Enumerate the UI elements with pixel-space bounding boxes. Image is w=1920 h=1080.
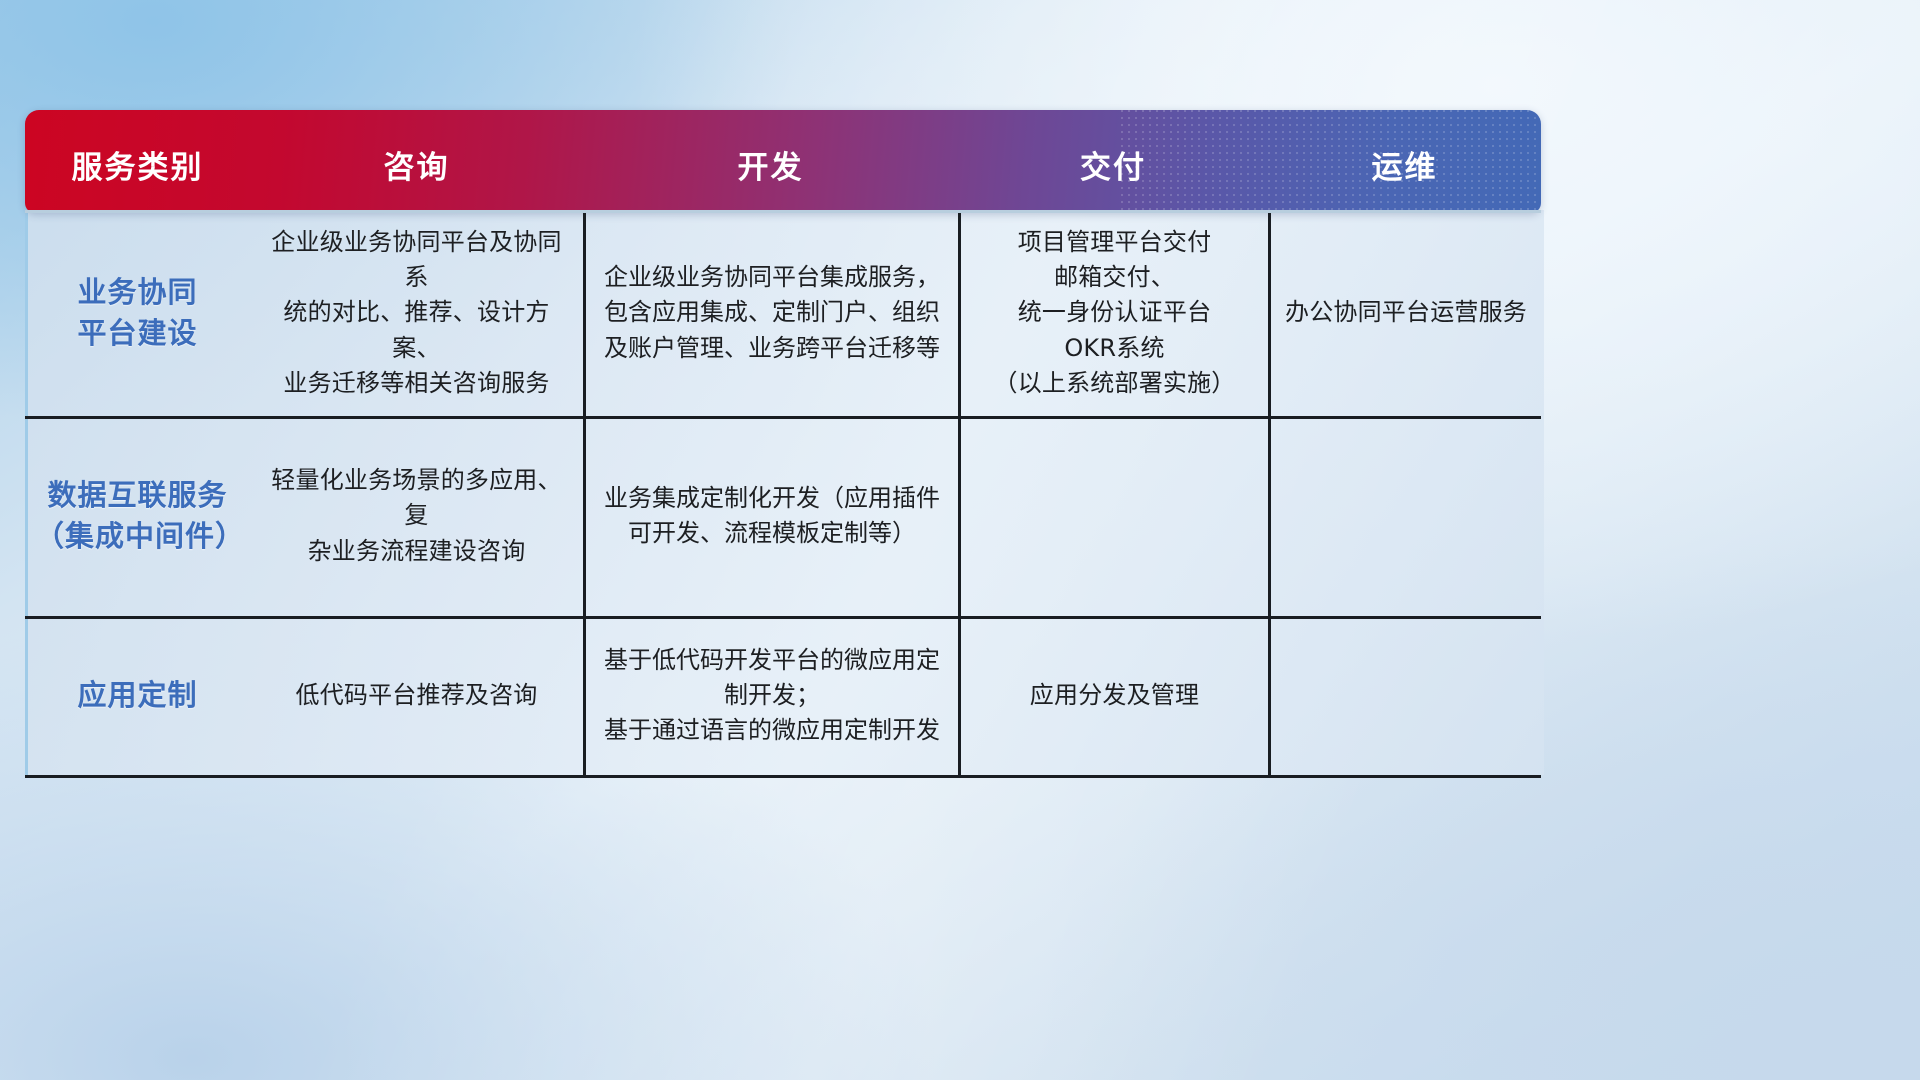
divider-table-bottom [25, 775, 1541, 778]
cell-text: 项目管理平台交付 邮箱交付、 统一身份认证平台 OKR系统 （以上系统部署实施） [994, 225, 1236, 400]
cell-text: 企业级业务协同平台及协同系 统的对比、推荐、设计方案、 业务迁移等相关咨询服务 [260, 225, 573, 400]
cell-operations [1268, 416, 1541, 616]
cell-text: 应用分发及管理 [1030, 678, 1199, 713]
cell-operations [1268, 616, 1541, 775]
cell-text: 低代码平台推荐及咨询 [296, 678, 538, 713]
row-label-cell: 数据互联服务 （集成中间件） [25, 416, 250, 616]
cell-development: 基于低代码开发平台的微应用定 制开发； 基于通过语言的微应用定制开发 [583, 616, 958, 775]
row-label: 数据互联服务 （集成中间件） [35, 475, 240, 557]
cell-consulting: 轻量化业务场景的多应用、复 杂业务流程建设咨询 [250, 416, 583, 616]
cell-development: 企业级业务协同平台集成服务， 包含应用集成、定制门户、组织 及账户管理、业务跨平… [583, 210, 958, 416]
column-header-operations: 运维 [1268, 142, 1541, 213]
cell-development: 业务集成定制化开发（应用插件 可开发、流程模板定制等） [583, 416, 958, 616]
divider-row-2 [25, 616, 1541, 619]
column-header-service-category: 服务类别 [25, 142, 250, 213]
column-header-consulting: 咨询 [250, 142, 583, 213]
table-body: 业务协同 平台建设 企业级业务协同平台及协同系 统的对比、推荐、设计方案、 业务… [25, 210, 1541, 775]
cell-text: 轻量化业务场景的多应用、复 杂业务流程建设咨询 [260, 463, 573, 568]
cell-consulting: 企业级业务协同平台及协同系 统的对比、推荐、设计方案、 业务迁移等相关咨询服务 [250, 210, 583, 416]
column-header-delivery: 交付 [958, 142, 1268, 213]
divider-row-1 [25, 416, 1541, 419]
cell-delivery [958, 416, 1268, 616]
column-header-development: 开发 [583, 142, 958, 213]
cell-consulting: 低代码平台推荐及咨询 [250, 616, 583, 775]
cell-delivery: 项目管理平台交付 邮箱交付、 统一身份认证平台 OKR系统 （以上系统部署实施） [958, 210, 1268, 416]
divider-header-bottom [25, 210, 1541, 213]
cell-delivery: 应用分发及管理 [958, 616, 1268, 775]
table-header-row: 服务类别 咨询 开发 交付 运维 [25, 110, 1541, 213]
cell-text: 业务集成定制化开发（应用插件 可开发、流程模板定制等） [604, 481, 940, 551]
row-label: 业务协同 平台建设 [77, 272, 197, 354]
table-row: 应用定制 低代码平台推荐及咨询 基于低代码开发平台的微应用定 制开发； 基于通过… [25, 616, 1541, 775]
cell-text: 办公协同平台运营服务 [1285, 295, 1527, 330]
table-row: 数据互联服务 （集成中间件） 轻量化业务场景的多应用、复 杂业务流程建设咨询 业… [25, 416, 1541, 616]
service-category-table: 服务类别 咨询 开发 交付 运维 业务协同 平台建设 企业级业务协同平台及协同系… [25, 110, 1541, 775]
cell-text: 基于低代码开发平台的微应用定 制开发； 基于通过语言的微应用定制开发 [604, 643, 940, 748]
row-label-cell: 应用定制 [25, 616, 250, 775]
cell-text: 企业级业务协同平台集成服务， 包含应用集成、定制门户、组织 及账户管理、业务跨平… [604, 260, 940, 365]
table-row: 业务协同 平台建设 企业级业务协同平台及协同系 统的对比、推荐、设计方案、 业务… [25, 210, 1541, 416]
row-label-cell: 业务协同 平台建设 [25, 210, 250, 416]
row-label: 应用定制 [77, 675, 197, 716]
cell-operations: 办公协同平台运营服务 [1268, 210, 1541, 416]
